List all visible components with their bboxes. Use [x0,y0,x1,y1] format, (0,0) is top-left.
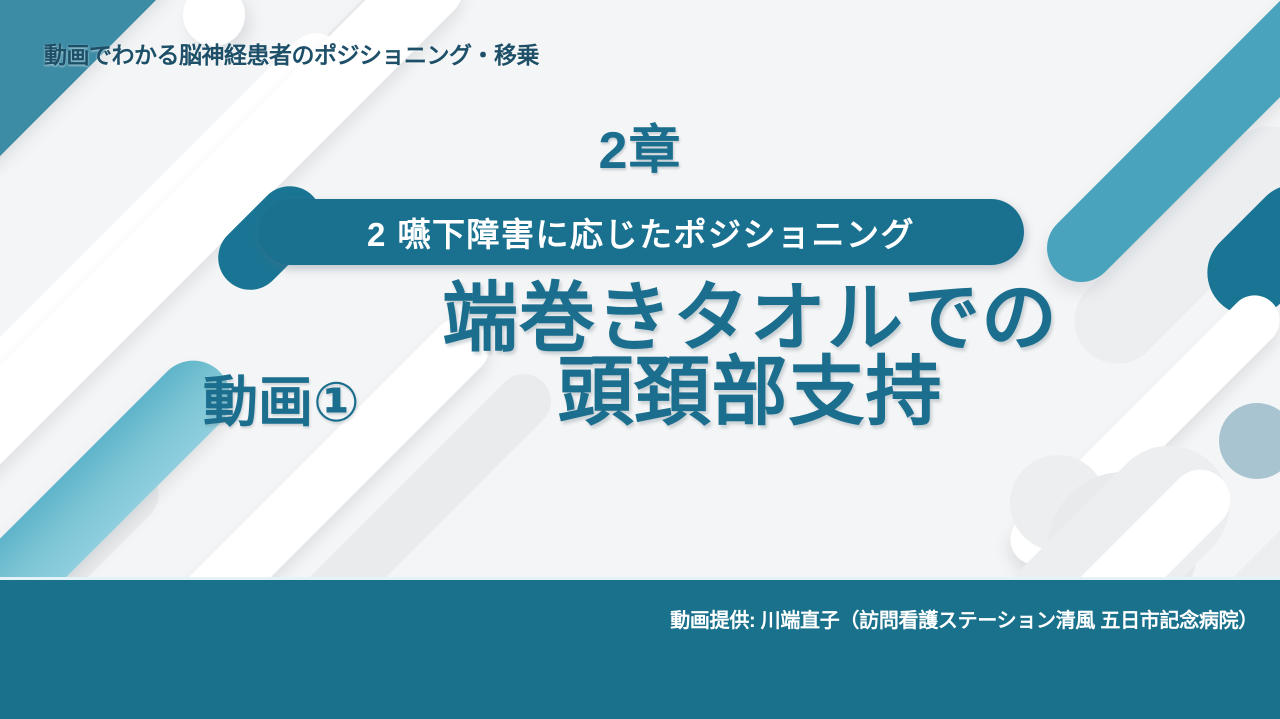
header-title: 動画でわかる脳神経患者のポジショニング・移乗 [44,36,539,70]
section-pill-badge: 2 嚥下障害に応じたポジショニング [258,199,1024,265]
decor-circle-blue-grey [1219,403,1280,479]
main-title-line-1: 端巻きタオルでの [440,282,1060,356]
main-title: 端巻きタオルでの 頭頚部支持 [440,282,1060,431]
main-title-line-2: 頭頚部支持 [440,356,1060,430]
footer-credit-text: 動画提供: 川端直子（訪問看護ステーション清風 五日市記念病院） [670,604,1258,633]
footer-bar: 動画提供: 川端直子（訪問看護ステーション清風 五日市記念病院） [0,577,1280,719]
chapter-number: 2章 [0,108,1280,183]
section-pill-label: 2 嚥下障害に応じたポジショニング [367,208,915,256]
title-slide: 動画でわかる脳神経患者のポジショニング・移乗 2章 2 嚥下障害に応じたポジショ… [0,0,1280,719]
video-number-label: 動画① [203,357,360,437]
